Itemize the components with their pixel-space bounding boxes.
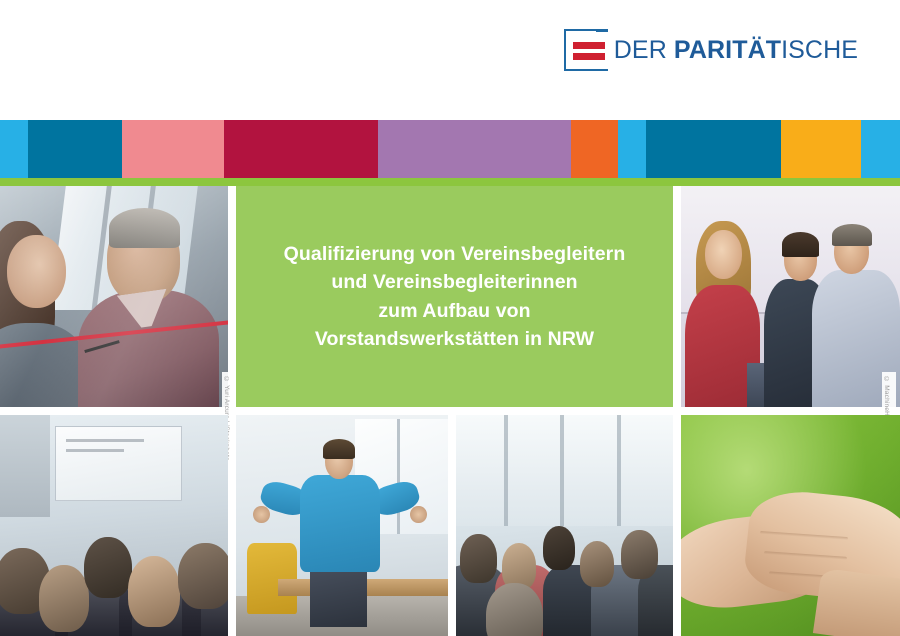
classroom-window-mullion xyxy=(397,419,400,534)
brochure-cover-page: DER PARITÄTISCHE © Yuri Arcurs | iStockp… xyxy=(0,0,900,636)
color-stripe-5-orange xyxy=(571,120,618,178)
paritaetische-logo-mark-icon xyxy=(562,27,610,73)
logo-frame-top-stub xyxy=(596,29,608,32)
presenter-hair-shape xyxy=(323,439,355,459)
presenter-left-hand-shape xyxy=(253,506,270,524)
audience-head-5 xyxy=(178,543,228,609)
photo-group-conversation xyxy=(681,186,900,407)
seminar-mullion-3 xyxy=(617,415,621,526)
audience-head-2 xyxy=(39,565,89,631)
photo-audience-presentation xyxy=(0,415,228,636)
color-stripe-2-salmon-pink xyxy=(122,120,224,178)
seminar-head-5 xyxy=(621,530,658,579)
color-stripe-4-purple xyxy=(378,120,571,178)
logo-red-bar-lower xyxy=(573,53,605,60)
top-photo-row: © Yuri Arcurs | iStockphoto Qualifizieru… xyxy=(0,186,900,407)
logo-word-ische: ISCHE xyxy=(781,36,858,64)
photo-handshake xyxy=(681,415,900,636)
audience-head-3 xyxy=(84,537,132,599)
seminar-head-1 xyxy=(460,534,497,583)
color-stripe-8-amber xyxy=(781,120,861,178)
man-two-hair-shape xyxy=(832,224,871,246)
color-stripe-1-teal xyxy=(28,120,122,178)
screen-text-line-1 xyxy=(66,439,144,442)
der-paritaetische-logo[interactable]: DER PARITÄTISCHE xyxy=(562,26,858,74)
cover-title-block: Qualifizierung von Vereinsbegleitern und… xyxy=(236,186,673,407)
cover-title-line-4: Vorstandswerkstätten in NRW xyxy=(284,325,626,353)
cover-title-line-2: und Vereinsbegleiterinnen xyxy=(284,268,626,296)
page-header: DER PARITÄTISCHE xyxy=(0,0,900,120)
color-stripe-6-light-blue xyxy=(618,120,646,178)
projection-screen-shape xyxy=(55,426,183,501)
cover-title-line-3: zum Aufbau von xyxy=(284,297,626,325)
logo-red-bar-upper xyxy=(573,42,605,49)
presenter-torso-shape xyxy=(300,475,381,572)
photo-seminar-audience xyxy=(456,415,673,636)
wall-panel-shape xyxy=(0,415,50,517)
seminar-head-4 xyxy=(580,541,615,587)
bottom-photo-row: © kasto | fotolia © Zee xyxy=(0,415,900,636)
color-stripe-0-light-blue xyxy=(0,120,28,178)
seminar-window-band xyxy=(456,415,673,526)
photo-discussion-pair xyxy=(0,186,228,407)
logo-frame-bottom-stub xyxy=(596,69,608,72)
color-stripe-band xyxy=(0,120,900,178)
seminar-mullion-2 xyxy=(560,415,564,526)
glass-reflection-overlay xyxy=(0,186,228,407)
wrist-shape xyxy=(813,568,900,636)
audience-head-4 xyxy=(128,556,180,627)
color-stripe-9-light-blue xyxy=(861,120,900,178)
cover-title-line-1: Qualifizierung von Vereinsbegleitern xyxy=(284,240,626,268)
seminar-mullion-1 xyxy=(504,415,508,526)
color-stripe-7-teal xyxy=(646,120,781,178)
seminar-foreground-head xyxy=(486,583,542,636)
cover-title-text: Qualifizierung von Vereinsbegleitern und… xyxy=(270,240,640,353)
color-stripe-3-crimson xyxy=(224,120,378,178)
logo-wordmark: DER PARITÄTISCHE xyxy=(614,38,858,63)
logo-word-paritaet: PARITÄT xyxy=(674,36,781,64)
woman-head-shape xyxy=(705,230,742,279)
photo-presenter-blue-shirt xyxy=(236,415,448,636)
man-one-hair-shape xyxy=(782,232,819,256)
green-divider-strip xyxy=(0,178,900,186)
presenter-right-hand-shape xyxy=(410,506,427,524)
screen-text-line-2 xyxy=(66,449,124,452)
logo-frame-shape xyxy=(564,29,608,71)
seminar-head-3 xyxy=(543,526,576,570)
logo-word-der: DER xyxy=(614,36,674,64)
